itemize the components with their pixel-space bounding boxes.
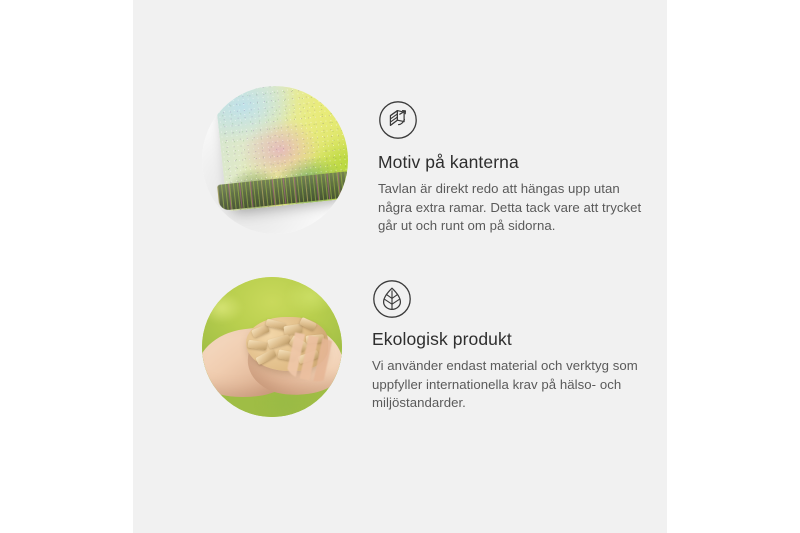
wood-chip [251,324,270,338]
hands-holding-wood-chips-photo [202,277,342,417]
feature-text-eco: Ekologisk produkt Vi använder endast mat… [372,273,650,413]
leaf-icon [372,279,412,319]
feature-title: Motiv på kanterna [378,152,650,173]
canvas-print-scene [202,86,348,234]
feature-block-eco: Ekologisk produkt Vi använder endast mat… [202,273,650,417]
feature-description: Tavlan är direkt redo att hängas upp uta… [378,180,650,236]
content-panel [133,0,667,533]
feature-title: Ekologisk produkt [372,329,650,350]
feature-block-edges: Motiv på kanterna Tavlan är direkt redo … [202,86,650,236]
wood-chip [255,349,276,365]
wood-chip [248,340,268,351]
wood-chip [267,334,291,349]
feature-description: Vi använder endast material och verktyg … [372,357,650,413]
canvas-wrapped-edges-icon [378,100,418,140]
nature-scene [202,277,342,417]
page-canvas: Motiv på kanterna Tavlan är direkt redo … [0,0,800,533]
canvas-print-corner-photo [202,86,348,234]
feature-text-edges: Motiv på kanterna Tavlan är direkt redo … [378,86,650,236]
